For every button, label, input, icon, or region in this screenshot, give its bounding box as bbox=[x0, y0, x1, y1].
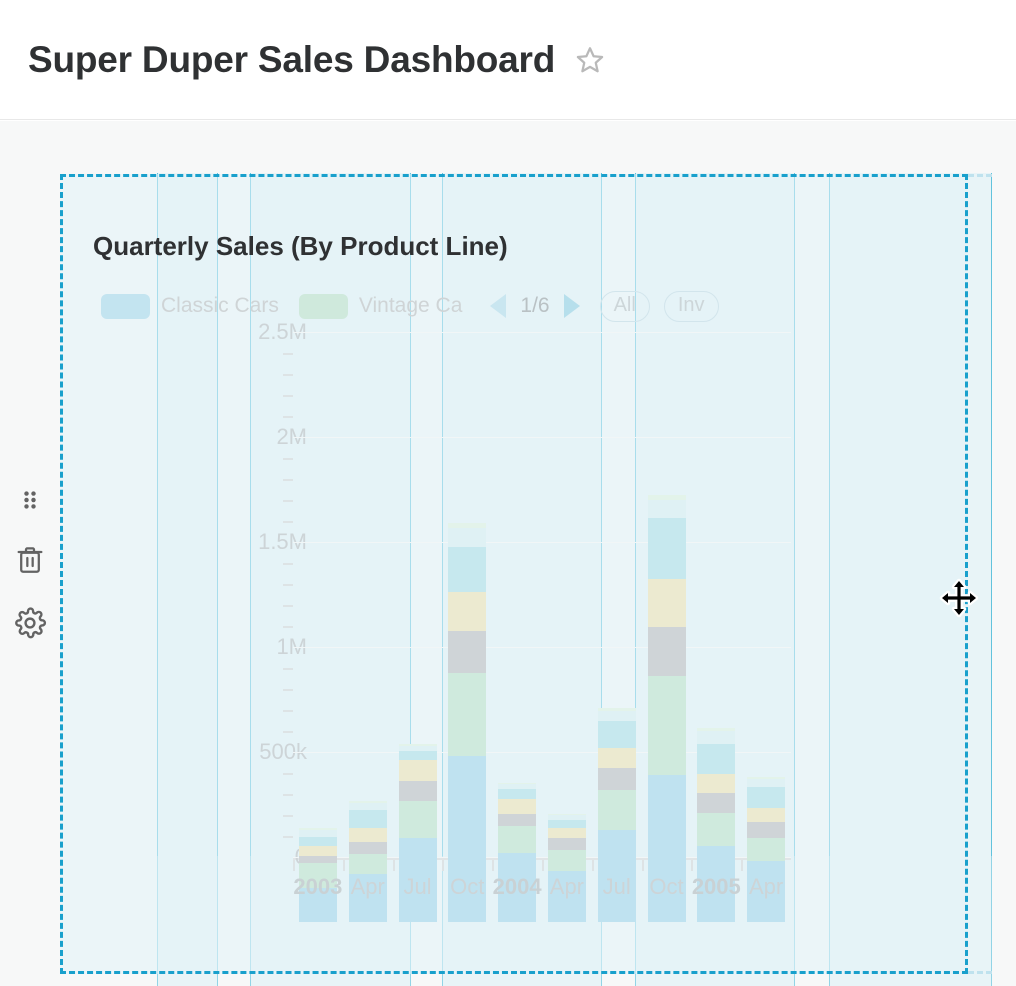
bar-segment bbox=[548, 828, 586, 839]
bar-segment bbox=[697, 813, 735, 847]
bar-stack[interactable] bbox=[498, 783, 536, 922]
bar-segment bbox=[747, 787, 785, 808]
app-header: Super Duper Sales Dashboard bbox=[0, 0, 1016, 120]
y-axis-minor-tick bbox=[283, 479, 293, 481]
legend-page-indicator: 1/6 bbox=[520, 294, 549, 318]
bar-segment bbox=[598, 790, 636, 830]
x-axis-minor-tick bbox=[343, 860, 345, 871]
drag-handle-icon[interactable] bbox=[16, 486, 44, 514]
legend-swatch bbox=[299, 294, 348, 319]
bar-segment bbox=[648, 676, 686, 775]
y-axis-minor-tick bbox=[283, 584, 293, 586]
bar-segment bbox=[747, 838, 785, 861]
bar-segment bbox=[598, 768, 636, 790]
y-axis-minor-tick bbox=[283, 668, 293, 670]
y-axis-minor-tick bbox=[283, 605, 293, 607]
x-axis-tick-label: Oct bbox=[649, 874, 683, 900]
y-axis-minor-tick bbox=[283, 500, 293, 502]
y-axis-minor-tick bbox=[283, 710, 293, 712]
y-gridline bbox=[293, 647, 791, 648]
trash-icon[interactable] bbox=[14, 544, 46, 576]
bar-segment bbox=[448, 592, 486, 631]
bar-segment bbox=[697, 793, 735, 813]
bar-segment bbox=[598, 748, 636, 768]
x-axis-tick-label: Apr bbox=[351, 874, 385, 900]
dashboard-canvas: Quarterly Sales (By Product Line) Classi… bbox=[0, 121, 1016, 986]
widget-toolrail bbox=[8, 486, 52, 670]
chart-plot-area: 0500k1M1.5M2M2.5M 2003AprJulOct2004AprJu… bbox=[101, 332, 801, 922]
bar-segment bbox=[299, 856, 337, 863]
bar-segment bbox=[498, 814, 536, 827]
y-axis-minor-tick bbox=[283, 521, 293, 523]
bar-segment bbox=[299, 846, 337, 855]
page-title: Super Duper Sales Dashboard bbox=[28, 39, 555, 81]
bar-stack[interactable] bbox=[448, 523, 486, 922]
bar-segment bbox=[648, 579, 686, 627]
x-axis-tick-label: Jul bbox=[603, 874, 631, 900]
bar-segment bbox=[349, 810, 387, 828]
x-axis-tick-label: 2004 bbox=[493, 874, 542, 900]
y-axis-minor-tick bbox=[283, 395, 293, 397]
bar-segment bbox=[448, 528, 486, 547]
bar-segment bbox=[548, 820, 586, 827]
x-axis-minor-tick bbox=[691, 860, 693, 871]
y-axis-minor-tick bbox=[283, 773, 293, 775]
bar-segment bbox=[648, 500, 686, 518]
x-axis-minor-tick bbox=[293, 860, 295, 871]
x-axis-minor-tick bbox=[393, 860, 395, 871]
legend-label: Classic Cars bbox=[161, 294, 279, 318]
legend-select-all-button[interactable]: All bbox=[600, 291, 650, 322]
bar-stack[interactable] bbox=[349, 801, 387, 922]
x-axis-minor-tick bbox=[442, 860, 444, 871]
x-axis-minor-tick bbox=[492, 860, 494, 871]
y-axis-minor-tick bbox=[283, 563, 293, 565]
y-axis-minor-tick bbox=[283, 353, 293, 355]
y-axis-minor-tick bbox=[283, 731, 293, 733]
x-axis-tick-label: 2005 bbox=[692, 874, 741, 900]
y-gridline bbox=[293, 542, 791, 543]
bar-segment bbox=[747, 822, 785, 838]
y-axis-minor-tick bbox=[283, 374, 293, 376]
chevron-left-icon[interactable] bbox=[490, 294, 506, 318]
bar-segment bbox=[399, 801, 437, 838]
bar-stack[interactable] bbox=[747, 777, 785, 922]
y-axis-minor-tick bbox=[283, 815, 293, 817]
bar-segment bbox=[399, 781, 437, 801]
x-axis-minor-tick bbox=[542, 860, 544, 871]
bar-segment bbox=[598, 711, 636, 722]
x-axis-tick-label: Jul bbox=[403, 874, 431, 900]
bar-segment bbox=[498, 799, 536, 814]
bar-segment bbox=[349, 842, 387, 854]
y-gridline bbox=[293, 437, 791, 438]
x-axis-tick-label: Oct bbox=[450, 874, 484, 900]
bar-segment bbox=[399, 751, 437, 760]
widget-quarterly-sales[interactable]: Quarterly Sales (By Product Line) Classi… bbox=[60, 174, 968, 974]
chevron-right-icon[interactable] bbox=[564, 294, 580, 318]
bar-segment bbox=[598, 721, 636, 747]
legend-label: Vintage Ca bbox=[359, 294, 463, 318]
y-gridline bbox=[293, 332, 791, 333]
bar-segment bbox=[697, 774, 735, 793]
bar-segment bbox=[299, 837, 337, 846]
bar-segment bbox=[399, 760, 437, 781]
bar-segment bbox=[299, 830, 337, 837]
legend-pager: 1/6 bbox=[484, 294, 585, 318]
bar-segment bbox=[697, 744, 735, 774]
bar-segment bbox=[448, 547, 486, 592]
legend-swatch bbox=[101, 294, 150, 319]
y-axis-minor-tick bbox=[283, 794, 293, 796]
x-axis-tick-label: Apr bbox=[749, 874, 783, 900]
star-icon[interactable] bbox=[575, 45, 605, 75]
gear-icon[interactable] bbox=[13, 606, 47, 640]
bar-stack[interactable] bbox=[548, 814, 586, 922]
widget-resize-ghost bbox=[968, 174, 992, 974]
y-axis-minor-tick bbox=[283, 836, 293, 838]
bar-segment bbox=[349, 828, 387, 843]
y-axis bbox=[292, 332, 293, 857]
y-axis-minor-tick bbox=[283, 689, 293, 691]
bar-segment bbox=[648, 627, 686, 676]
x-axis-minor-tick bbox=[592, 860, 594, 871]
y-axis-minor-tick bbox=[283, 458, 293, 460]
legend-item-classic-cars[interactable]: Classic Cars bbox=[101, 294, 279, 319]
chart-title: Quarterly Sales (By Product Line) bbox=[93, 231, 508, 262]
bar-stack[interactable] bbox=[648, 495, 686, 922]
bar-segment bbox=[747, 808, 785, 823]
bar-segment bbox=[448, 631, 486, 673]
bar-segment bbox=[548, 850, 586, 871]
bar-segment bbox=[747, 779, 785, 786]
x-axis-tick-label: 2003 bbox=[293, 874, 342, 900]
legend-items: Classic Cars Vintage Ca bbox=[101, 294, 482, 319]
chart-legend: Classic Cars Vintage Ca 1/6 All Inv bbox=[101, 289, 719, 323]
x-axis-minor-tick bbox=[741, 860, 743, 871]
x-axis-minor-tick bbox=[642, 860, 644, 871]
bar-segment bbox=[349, 854, 387, 874]
legend-invert-button[interactable]: Inv bbox=[664, 291, 719, 322]
x-axis-tick-label: Apr bbox=[550, 874, 584, 900]
bar-segment bbox=[448, 673, 486, 756]
y-axis-minor-tick bbox=[283, 626, 293, 628]
bar-segment bbox=[548, 838, 586, 850]
bar-segment bbox=[648, 518, 686, 579]
y-axis-minor-tick bbox=[283, 416, 293, 418]
bar-segment bbox=[498, 789, 536, 800]
legend-item-vintage-cars[interactable]: Vintage Ca bbox=[299, 294, 463, 319]
bar-segment bbox=[697, 731, 735, 744]
bar-segment bbox=[498, 826, 536, 852]
